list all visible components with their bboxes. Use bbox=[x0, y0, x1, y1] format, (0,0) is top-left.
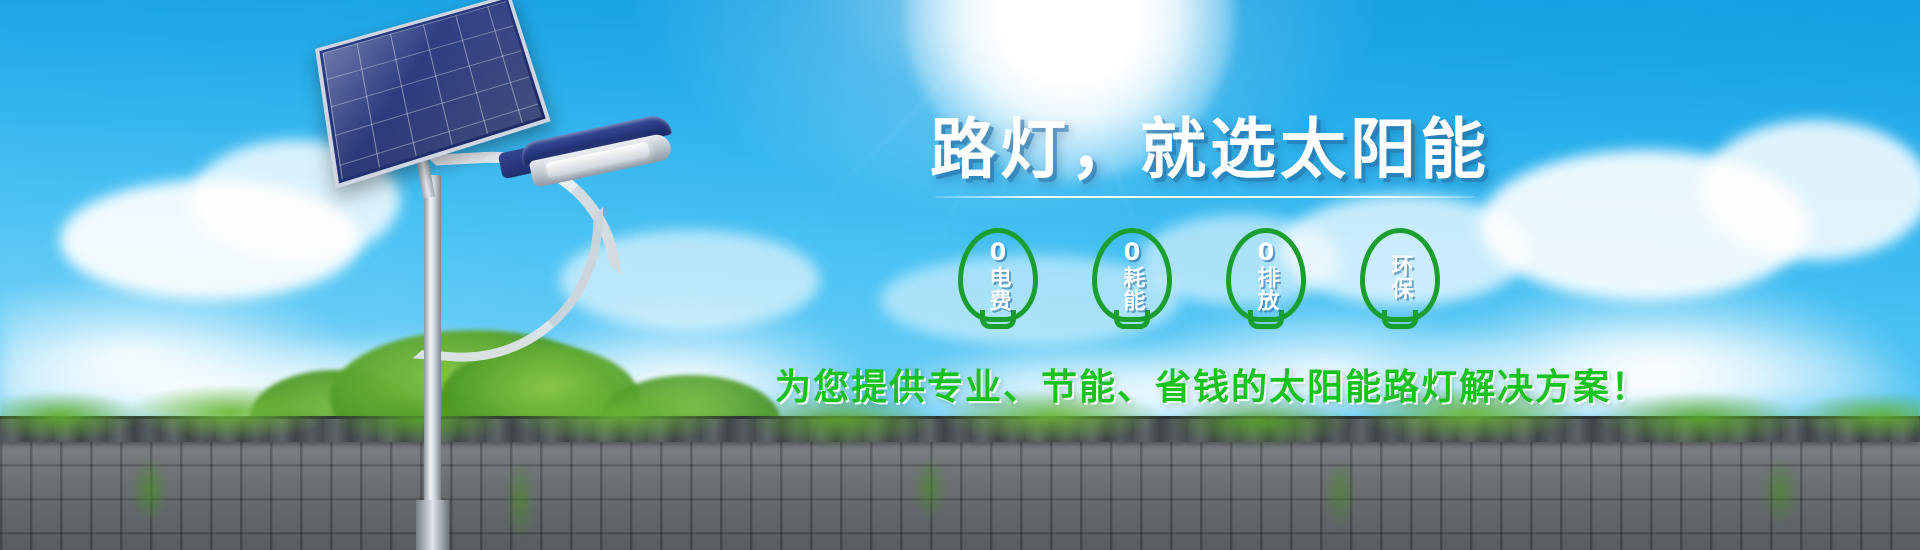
hanging-vines bbox=[0, 450, 1920, 550]
lamp-pole bbox=[424, 175, 441, 550]
lamp-pole-base bbox=[416, 500, 449, 550]
cloud bbox=[880, 255, 1180, 345]
lamp-arm-lower bbox=[412, 194, 603, 371]
solar-street-light bbox=[300, 0, 730, 550]
cloud bbox=[1140, 215, 1340, 305]
lamp-head bbox=[519, 113, 677, 190]
solar-street-light-banner: 路灯，就选太阳能 0 电费 0 耗能 0 排放 环保 bbox=[0, 0, 1920, 550]
tiled-wall bbox=[0, 430, 1920, 550]
cloud bbox=[1700, 120, 1920, 260]
